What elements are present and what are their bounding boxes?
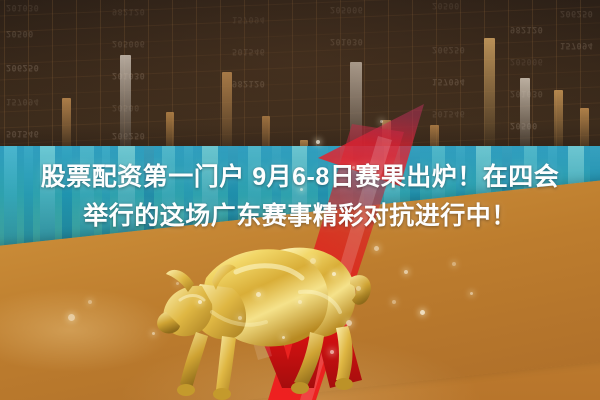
bokeh-dot	[420, 310, 425, 315]
bokeh-dot	[298, 300, 302, 304]
bokeh-dot	[470, 292, 473, 295]
banner-image: 2010302050020625015709450154698212020500…	[0, 0, 600, 400]
headline-line-2: 举行的这场广东赛事精彩对抗进行中！	[0, 197, 600, 236]
golden-bull-statue	[150, 232, 380, 400]
bokeh-dot	[88, 300, 92, 304]
headline-text: 股票配资第一门户 9月6-8日赛果出炉！在四会 举行的这场广东赛事精彩对抗进行中…	[0, 158, 600, 236]
bokeh-dot	[282, 336, 285, 339]
bokeh-dot	[152, 332, 155, 335]
bokeh-dot	[380, 120, 383, 123]
bokeh-dot	[330, 350, 334, 354]
bokeh-dot	[404, 270, 408, 274]
bokeh-dot	[198, 300, 202, 304]
bokeh-dot	[310, 258, 316, 264]
bokeh-dot	[256, 292, 261, 297]
bokeh-dot	[346, 320, 352, 326]
headline-line-1: 股票配资第一门户 9月6-8日赛果出炉！在四会	[0, 158, 600, 197]
bokeh-dot	[332, 272, 336, 276]
bokeh-dot	[238, 316, 242, 320]
bokeh-dot	[452, 262, 456, 266]
bokeh-dot	[68, 314, 75, 321]
bokeh-dot	[176, 282, 179, 285]
bokeh-dot	[316, 140, 320, 144]
bokeh-dot	[356, 286, 361, 291]
bokeh-dot	[392, 300, 396, 304]
bokeh-dot	[374, 246, 379, 251]
